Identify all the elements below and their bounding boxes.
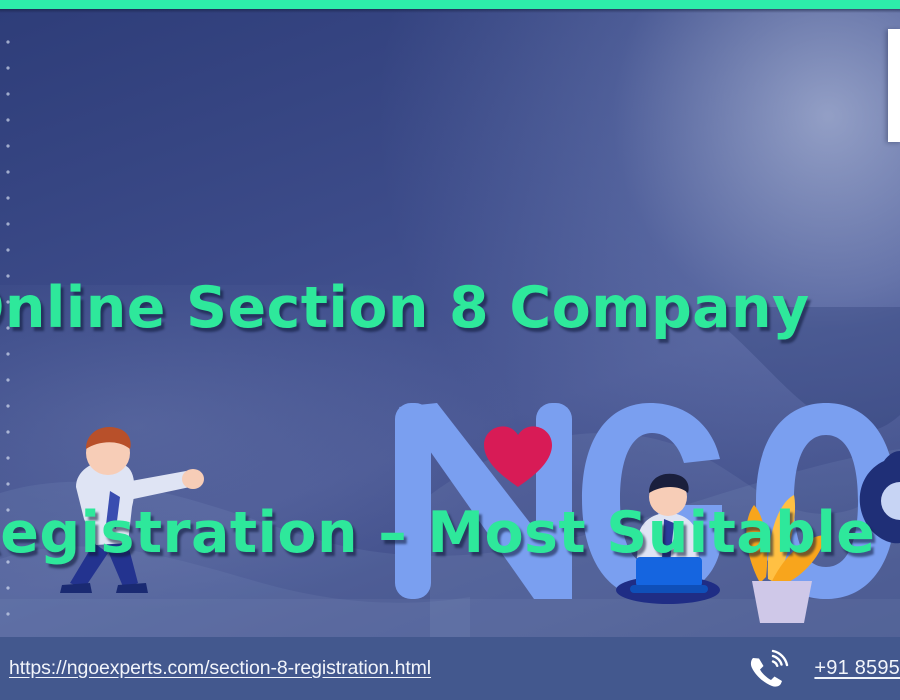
footer-bar: https://ngoexperts.com/section-8-registr… [0, 637, 900, 700]
title-line-1: Online Section 8 Company [0, 271, 900, 346]
hero-region: Online Section 8 Company Registration – … [0, 9, 900, 637]
page-title: Online Section 8 Company Registration – … [0, 121, 900, 637]
website-url-link[interactable]: https://ngoexperts.com/section-8-registr… [9, 657, 431, 680]
corner-white-block [888, 29, 900, 142]
contact-block: +91 8595 [746, 649, 900, 689]
top-accent-shadow [0, 9, 900, 13]
slide-canvas: Online Section 8 Company Registration – … [0, 0, 900, 700]
phone-call-icon [746, 649, 790, 689]
phone-number-link[interactable]: +91 8595 [814, 657, 900, 680]
top-accent-bar [0, 0, 900, 9]
title-line-2: Registration – Most Suitable [0, 496, 900, 571]
